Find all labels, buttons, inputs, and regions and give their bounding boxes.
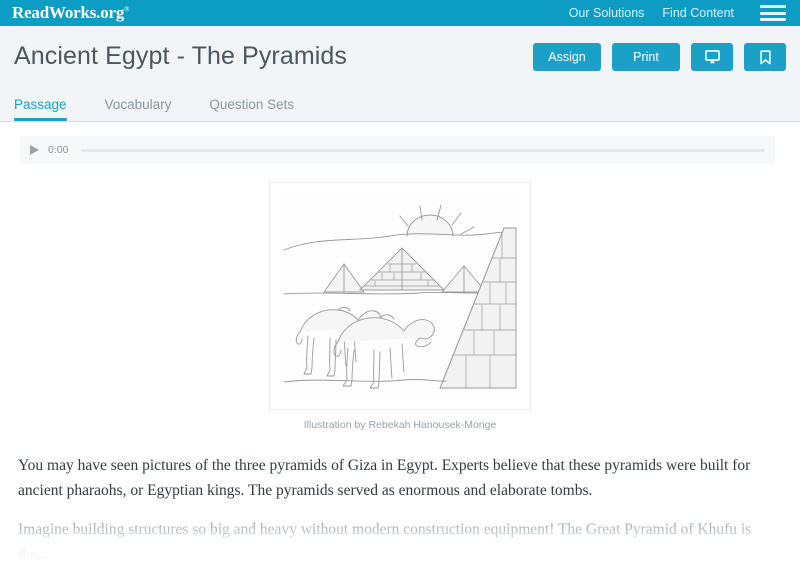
figure-caption: Illustration by Rebekah Hanousek-Monge <box>269 419 531 431</box>
page-header-band: Ancient Egypt - The Pyramids Assign Prin… <box>0 26 800 122</box>
pyramids-illustration <box>278 192 522 402</box>
figure-frame <box>269 182 531 410</box>
passage-figure: Illustration by Rebekah Hanousek-Monge <box>269 182 531 431</box>
passage-text: You may have seen pictures of the three … <box>0 431 800 567</box>
monitor-icon <box>705 50 720 64</box>
page-title: Ancient Egypt - The Pyramids <box>14 38 347 71</box>
hamburger-bar <box>760 12 786 15</box>
audio-current-time: 0:00 <box>48 144 68 156</box>
tab-question-sets[interactable]: Question Sets <box>209 97 294 121</box>
action-buttons: Assign Print <box>533 37 786 71</box>
registered-mark-icon: ® <box>124 5 129 13</box>
bookmark-icon <box>760 50 771 65</box>
bookmark-button[interactable] <box>744 43 786 71</box>
site-header: ReadWorks.org® Our Solutions Find Conten… <box>0 0 800 26</box>
readworks-logo[interactable]: ReadWorks.org® <box>12 4 129 21</box>
hamburger-bar <box>760 5 786 8</box>
hamburger-bar <box>760 18 786 21</box>
audio-seek-bar[interactable] <box>81 149 765 152</box>
content-tabs: Passage Vocabulary Question Sets <box>0 82 800 121</box>
assign-button[interactable]: Assign <box>533 43 601 71</box>
audio-player-container: 0:00 <box>0 122 800 164</box>
hamburger-menu-icon[interactable] <box>760 4 786 22</box>
passage-paragraph-1: You may have seen pictures of the three … <box>18 453 780 503</box>
logo-text: ReadWorks.org <box>12 3 124 22</box>
play-icon[interactable] <box>30 145 39 155</box>
print-button[interactable]: Print <box>612 43 680 71</box>
title-row: Ancient Egypt - The Pyramids Assign Prin… <box>0 26 800 82</box>
nav-link-our-solutions[interactable]: Our Solutions <box>569 6 645 20</box>
tab-vocabulary[interactable]: Vocabulary <box>105 97 172 121</box>
top-navigation: Our Solutions Find Content <box>569 4 786 22</box>
tab-passage[interactable]: Passage <box>14 97 67 121</box>
passage-paragraph-2: Imagine building structures so big and h… <box>18 517 780 567</box>
nav-link-find-content[interactable]: Find Content <box>662 6 734 20</box>
audio-player: 0:00 <box>20 136 775 164</box>
digital-view-button[interactable] <box>691 43 733 71</box>
